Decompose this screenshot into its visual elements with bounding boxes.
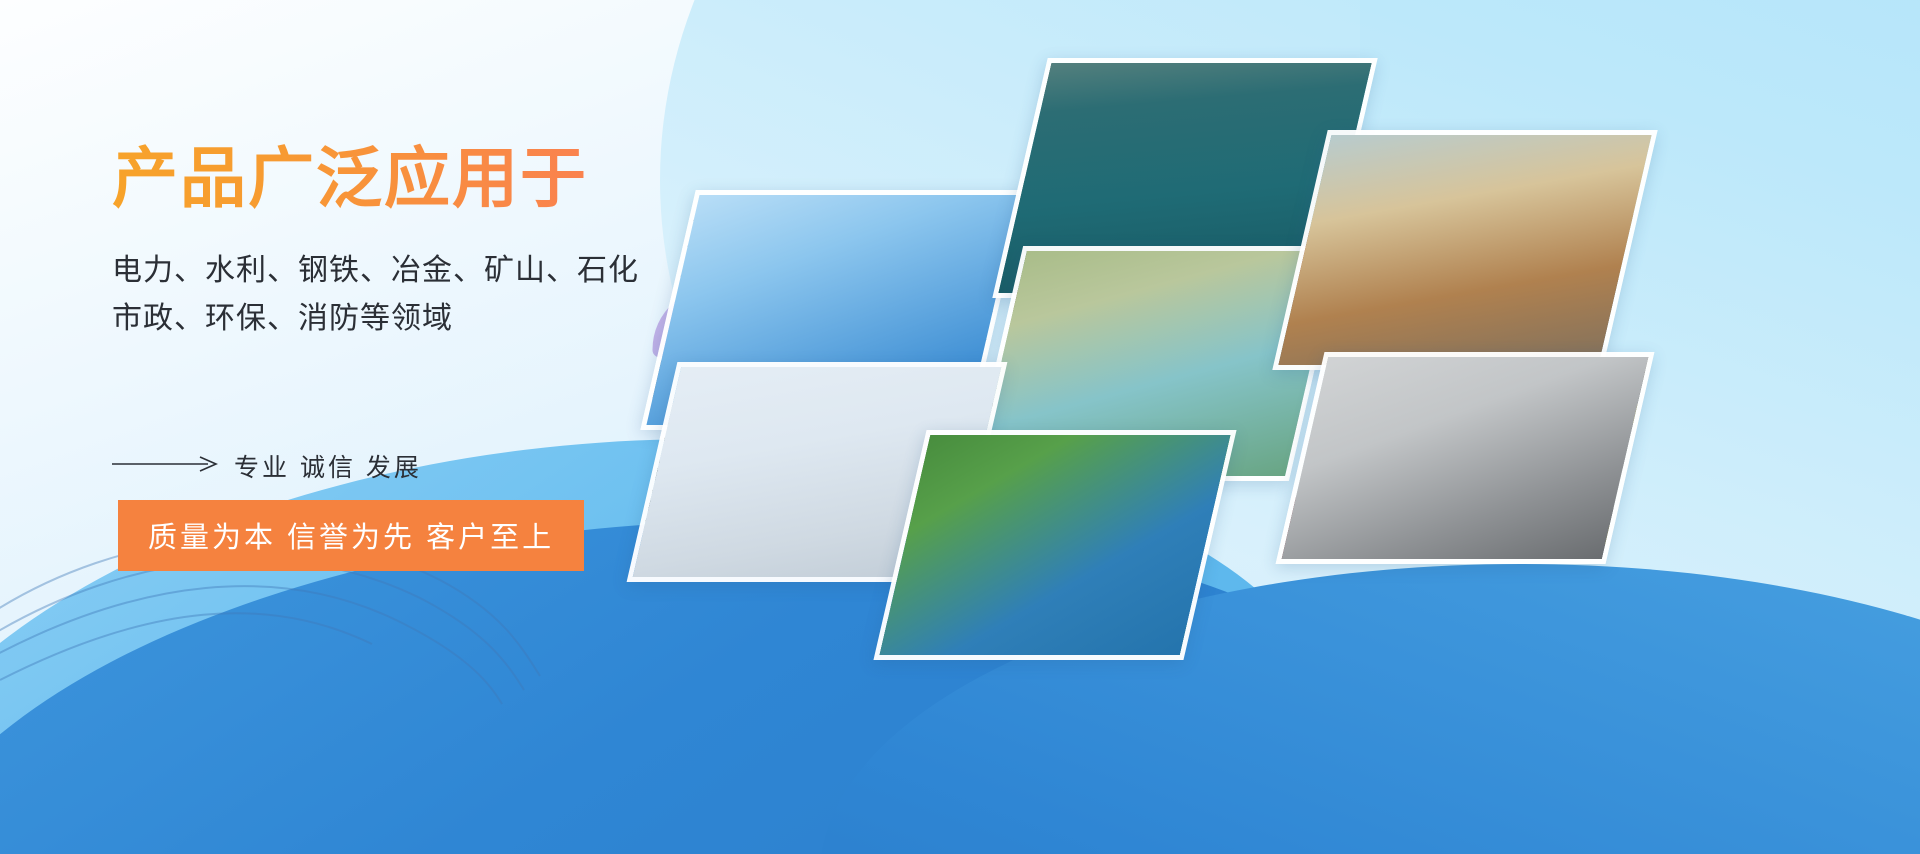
photo-firefighter-training — [1276, 352, 1655, 564]
tagline-row: 专业 诚信 发展 — [112, 448, 422, 484]
industry-photo-collage — [600, 0, 1920, 854]
slogan-bar: 质量为本 信誉为先 客户至上 — [118, 500, 584, 571]
photo-steel-metallurgy-plant — [1272, 130, 1657, 370]
page-title: 产品广泛应用于 — [112, 138, 812, 219]
promotional-banner: 产品广泛应用于 电力、水利、钢铁、冶金、矿山、石化 市政、环保、消防等领域 专业… — [0, 0, 1920, 854]
subhead-block: 电力、水利、钢铁、冶金、矿山、石化 市政、环保、消防等领域 — [112, 247, 812, 344]
subhead-line-2: 市政、环保、消防等领域 — [112, 295, 812, 344]
long-arrow-right-icon — [112, 455, 220, 478]
tagline-text: 专业 诚信 发展 — [234, 448, 422, 484]
photo-forest-river-environment — [873, 430, 1236, 660]
subhead-line-1: 电力、水利、钢铁、冶金、矿山、石化 — [112, 247, 812, 296]
headline-block: 产品广泛应用于 电力、水利、钢铁、冶金、矿山、石化 市政、环保、消防等领域 — [112, 138, 812, 344]
